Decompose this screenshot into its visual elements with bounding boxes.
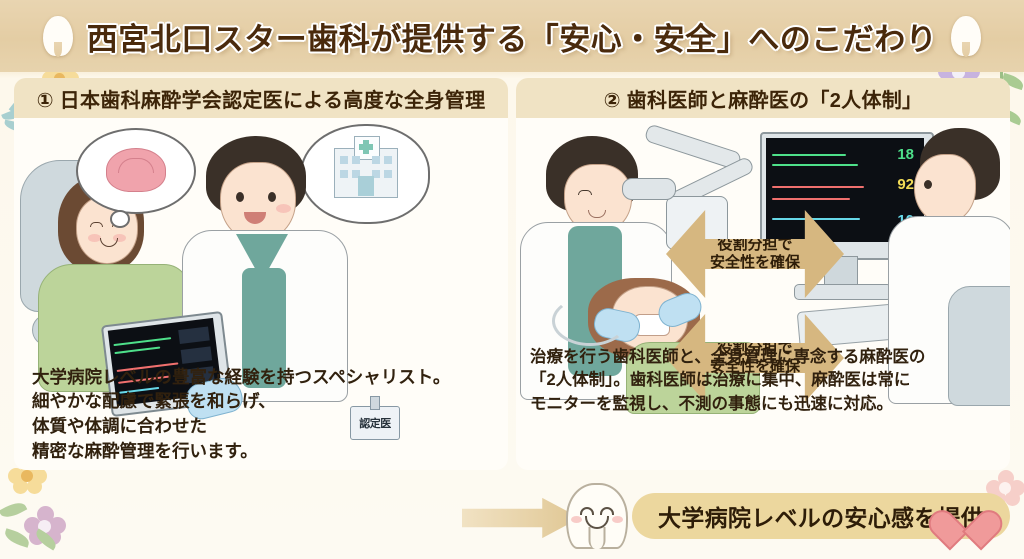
panel-2-description: 治療を行う歯科医師と、全身管理に専念する麻酔医の 「2人体制」。歯科医師は治療に… <box>530 346 1000 416</box>
hospital-cross-icon <box>359 144 373 150</box>
doctor-cheek <box>276 204 291 213</box>
hospital-window <box>340 170 348 178</box>
panel-2-line-2: 「2人体制」。歯科医師は治療に集中、麻酔医は常に <box>530 369 1000 392</box>
panel-2-line-1: 治療を行う歯科医師と、全身管理に専念する麻酔医の <box>530 346 1000 369</box>
panel-2-line-3: モニターを監視し、不測の事態にも迅速に対応。 <box>530 393 1000 416</box>
panel-1-body: 認定医 <box>14 118 508 470</box>
mascot-eye <box>600 507 614 515</box>
doctor-eye <box>268 192 276 202</box>
arrow-1-text: 役割分担で 安全性を確保 <box>710 236 800 271</box>
page-title: 西宮北口スター歯科が提供する「安心・安全」へのこだわり <box>87 14 938 59</box>
monitor-value-2: 92 <box>897 176 914 193</box>
panel-1-description: 大学病院レベルの豊富な経験を持つスペシャリスト。 細やかな配慮で緊張を和らげ、 … <box>32 365 498 464</box>
hospital-window <box>384 156 392 164</box>
microscope-eyepiece <box>622 178 676 200</box>
anesthesiologist-eye <box>924 180 932 189</box>
smiling-tooth-icon <box>566 483 628 549</box>
panel-1-line-3: 体質や体調に合わせた <box>32 414 498 439</box>
patient-eye <box>90 222 103 227</box>
hospital-window <box>384 170 392 178</box>
surgical-microscope-arm <box>644 123 743 170</box>
monitor-value-1: 18 <box>897 146 914 163</box>
footer-banner: 大学病院レベルの安心感を提供 <box>0 479 1024 559</box>
hospital-window <box>352 156 360 164</box>
panels-container: ① 日本歯科麻酔学会認定医による高度な全身管理 <box>0 72 1024 482</box>
hospital-window <box>340 156 348 164</box>
tooth-icon <box>43 16 73 56</box>
panel-1-heading: ① 日本歯科麻酔学会認定医による高度な全身管理 <box>14 78 508 118</box>
panel-1-line-1: 大学病院レベルの豊富な経験を持つスペシャリスト。 <box>32 365 498 390</box>
anesthesiologist-face <box>914 154 976 224</box>
right-arrow-icon <box>462 497 580 539</box>
dentist-eye <box>578 190 592 195</box>
mascot-eye <box>580 507 594 515</box>
infographic-root: 西宮北口スター歯科が提供する「安心・安全」へのこだわり ① 日本歯科麻酔学会認定… <box>0 0 1024 559</box>
panel-2-heading: ② 歯科医師と麻酔医の「2人体制」 <box>516 78 1010 118</box>
mascot-cheek <box>612 516 623 523</box>
tooth-icon <box>951 16 981 56</box>
thought-bubble-tail <box>110 210 130 228</box>
hospital-window <box>372 156 380 164</box>
illustration-dentist-and-anesthesiologist-team: 18 92 10 <box>516 118 1010 470</box>
arrow-1-line-2: 安全性を確保 <box>710 254 800 272</box>
panel-1: ① 日本歯科麻酔学会認定医による高度な全身管理 <box>14 78 508 482</box>
hospital-entrance <box>358 176 374 196</box>
panel-2-body: 18 92 10 <box>516 118 1010 470</box>
panel-2: ② 歯科医師と麻酔医の「2人体制」 <box>516 78 1010 482</box>
panel-1-line-4: 精密な麻酔管理を行います。 <box>32 439 498 464</box>
heart-icon <box>946 501 988 539</box>
mascot-cheek <box>571 516 582 523</box>
header-banner: 西宮北口スター歯科が提供する「安心・安全」へのこだわり <box>0 0 1024 72</box>
doctor-eye <box>236 192 244 202</box>
panel-1-line-2: 細やかな配慮で緊張を和らげ、 <box>32 389 498 414</box>
suction-tube <box>552 296 628 346</box>
